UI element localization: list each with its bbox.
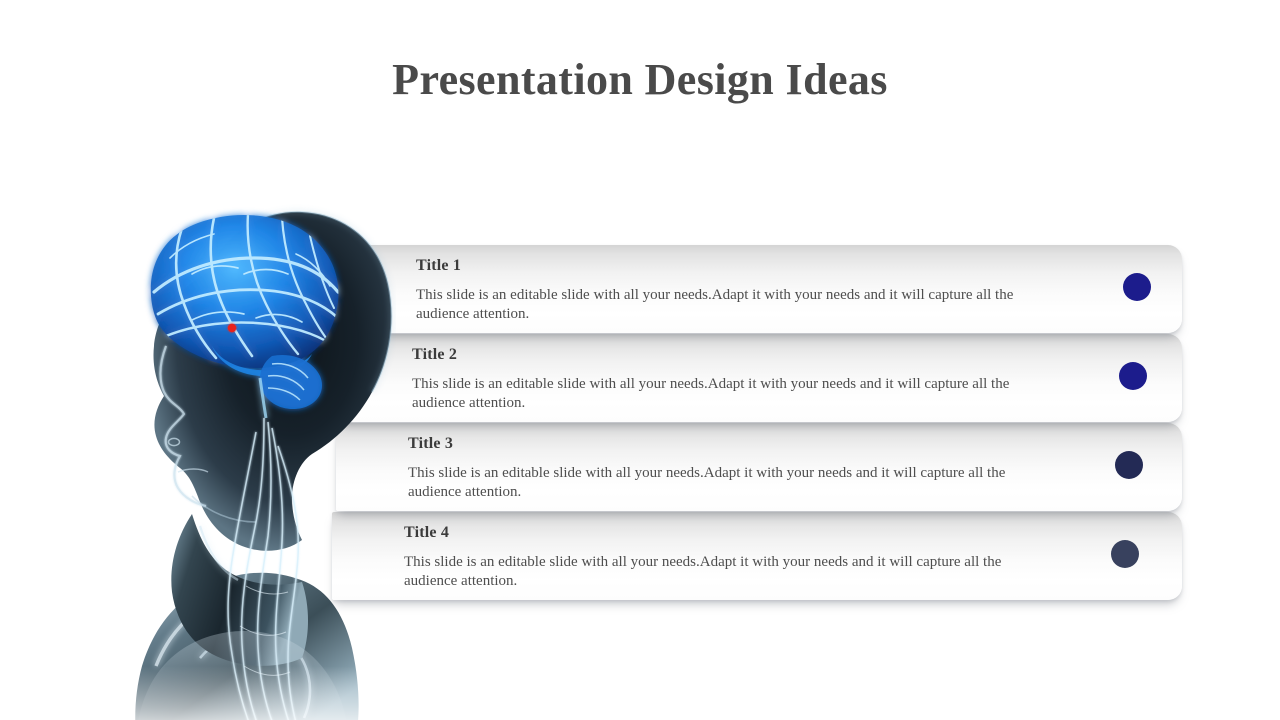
torso-shape [135, 573, 358, 720]
row-bullet-dot [1111, 540, 1139, 568]
row-body-text: This slide is an editable slide with all… [404, 553, 1014, 590]
row-body-text: This slide is an editable slide with all… [408, 464, 1018, 501]
neck-shape [171, 514, 308, 666]
row-bullet-dot [1115, 451, 1143, 479]
row-title: Title 2 [412, 346, 457, 364]
row-body-text: This slide is an editable slide with all… [416, 286, 1026, 323]
row-body-text: This slide is an editable slide with all… [412, 375, 1022, 412]
row-bullet-dot [1119, 362, 1147, 390]
brain-shape [151, 214, 340, 418]
row-title: Title 1 [416, 257, 461, 275]
row-title: Title 3 [408, 435, 453, 453]
content-row[interactable]: Title 3 This slide is an editable slide … [336, 423, 1182, 511]
content-row[interactable]: Title 2 This slide is an editable slide … [340, 334, 1182, 422]
presentation-slide: Presentation Design Ideas Title 4 This s… [0, 0, 1280, 720]
figure-reflection [136, 631, 348, 720]
row-bullet-dot [1123, 273, 1151, 301]
nerve-filaments [228, 418, 300, 720]
content-row[interactable]: Title 1 This slide is an editable slide … [344, 245, 1182, 333]
page-title: Presentation Design Ideas [0, 54, 1280, 105]
row-title: Title 4 [404, 524, 449, 542]
brain-marker-dot [228, 324, 236, 332]
content-row[interactable]: Title 4 This slide is an editable slide … [332, 512, 1182, 600]
